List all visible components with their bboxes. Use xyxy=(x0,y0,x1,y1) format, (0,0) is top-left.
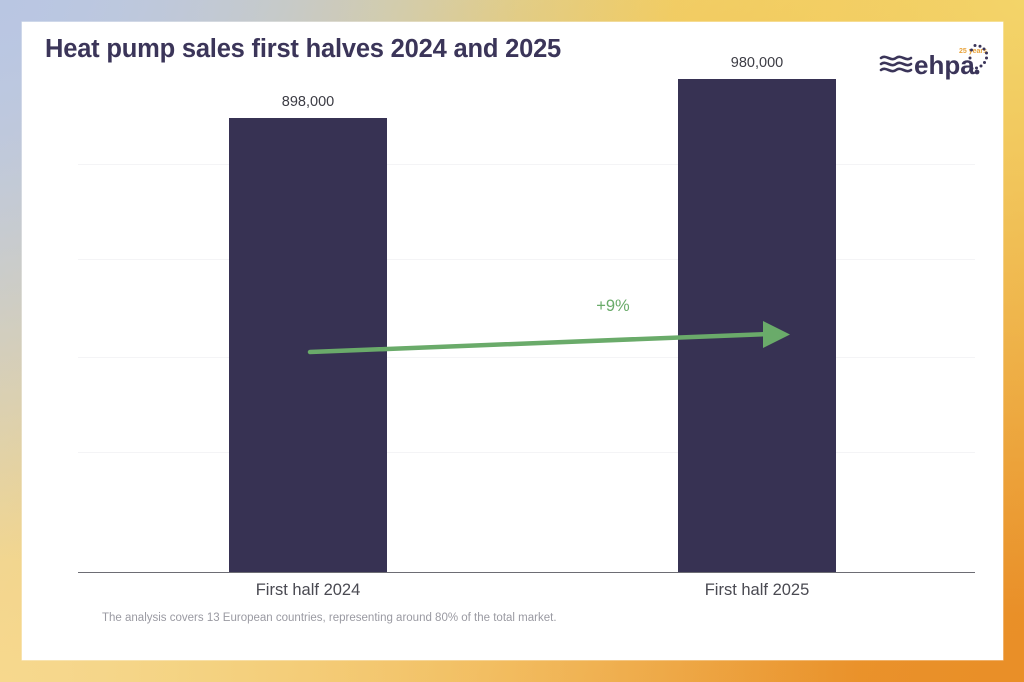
bar-value-first-half-2025: 980,000 xyxy=(648,55,866,71)
footnote-text: The analysis covers 13 European countrie… xyxy=(102,612,557,624)
slide-frame: Heat pump sales first halves 2024 and 20… xyxy=(0,0,1024,682)
growth-percentage-label: +9% xyxy=(533,297,693,316)
gridline xyxy=(78,259,975,260)
chart-card: Heat pump sales first halves 2024 and 20… xyxy=(22,22,1003,660)
logo-dot xyxy=(975,70,980,75)
growth-arrow-icon xyxy=(303,312,803,362)
x-axis-line xyxy=(78,572,975,573)
bar-value-first-half-2024: 898,000 xyxy=(199,94,417,110)
x-axis-label-first-half-2024: First half 2024 xyxy=(199,581,417,600)
x-axis-label-first-half-2025: First half 2025 xyxy=(648,581,866,600)
gridline xyxy=(78,164,975,165)
gridline xyxy=(78,452,975,453)
plot-area: 898,000 980,000 +9% First half 2024 Firs… xyxy=(78,57,975,587)
